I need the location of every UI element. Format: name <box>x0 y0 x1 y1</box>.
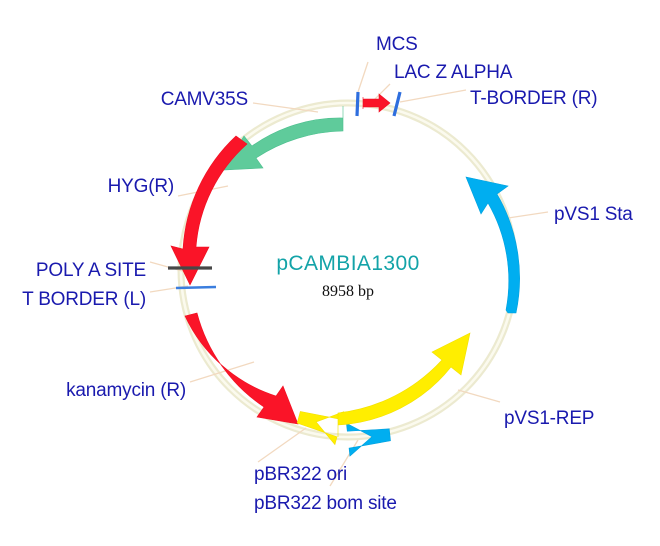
label-t-border-r[interactable]: T-BORDER (R) <box>470 88 597 109</box>
mcs-tick[interactable] <box>357 92 358 116</box>
feature-mcs[interactable] <box>357 92 358 116</box>
feature-kanamycin-r[interactable] <box>185 313 298 424</box>
feature-t-border-l[interactable] <box>176 287 216 288</box>
pvs1-rep-arrow[interactable] <box>338 333 470 437</box>
label-camv35s[interactable]: CAMV35S <box>161 89 248 110</box>
plasmid-name: pCAMBIA1300 <box>276 252 419 275</box>
label-hyg-r[interactable]: HYG(R) <box>108 176 174 197</box>
leader-pvs1-rep <box>458 390 500 402</box>
label-pbr322-ori[interactable]: pBR322 ori <box>254 464 347 485</box>
feature-pbr322-ori[interactable] <box>294 401 343 445</box>
leader-pbr322-ori <box>258 428 306 462</box>
plasmid-map-canvas: pCAMBIA1300 8958 bp MCS LAC Z ALPHA T-BO… <box>0 0 660 546</box>
label-lac-z-alpha[interactable]: LAC Z ALPHA <box>394 62 513 83</box>
pvs1-sta-arrow[interactable] <box>466 177 520 313</box>
feature-pvs1-sta[interactable] <box>466 177 520 313</box>
label-t-border-l[interactable]: T BORDER (L) <box>22 289 146 310</box>
leader-t-border-r <box>400 90 466 102</box>
t-border-l-tick[interactable] <box>176 287 216 288</box>
label-mcs[interactable]: MCS <box>376 34 418 55</box>
label-kanamycin-r[interactable]: kanamycin (R) <box>66 380 186 401</box>
label-pbr322-bom-site[interactable]: pBR322 bom site <box>254 493 397 514</box>
plasmid-size: 8958 bp <box>322 283 374 300</box>
label-pvs1-sta[interactable]: pVS1 Sta <box>554 204 633 225</box>
pbr322-ori-arrow[interactable] <box>294 401 343 445</box>
leader-mcs <box>358 62 368 92</box>
feature-pvs1-rep[interactable] <box>338 333 470 437</box>
label-pvs1-rep[interactable]: pVS1-REP <box>504 408 594 429</box>
leader-pvs1-sta <box>508 212 548 218</box>
plasmid-diagram: pCAMBIA1300 8958 bp MCS LAC Z ALPHA T-BO… <box>0 0 660 546</box>
label-poly-a-site[interactable]: POLY A SITE <box>36 260 146 281</box>
kanamycin-r-arrow[interactable] <box>185 313 298 424</box>
